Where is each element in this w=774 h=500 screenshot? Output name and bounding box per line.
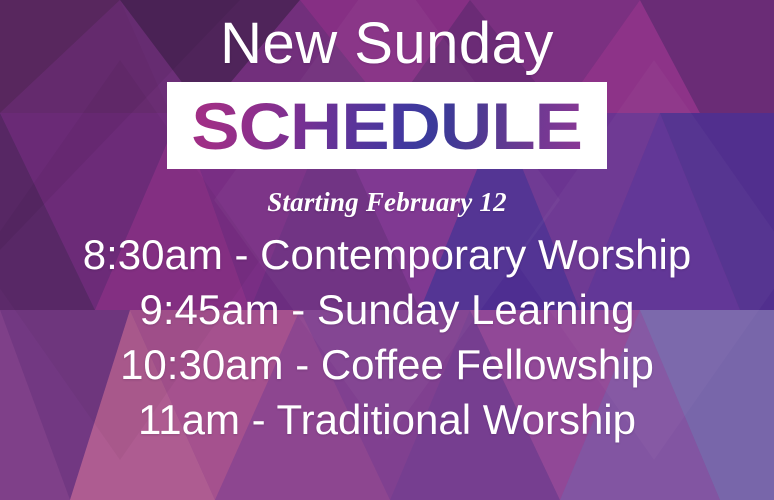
page-title: New Sunday — [220, 14, 554, 74]
start-date-subtitle: Starting February 12 — [267, 187, 507, 218]
schedule-item: 9:45am - Sunday Learning — [140, 282, 635, 337]
schedule-banner: SCHEDULE — [167, 82, 607, 169]
schedule-list: 8:30am - Contemporary Worship 9:45am - S… — [83, 227, 691, 447]
schedule-item: 8:30am - Contemporary Worship — [83, 227, 691, 282]
schedule-item: 10:30am - Coffee Fellowship — [120, 337, 654, 392]
poster-content: New Sunday SCHEDULE Starting February 12… — [0, 0, 774, 500]
poster-canvas: New Sunday SCHEDULE Starting February 12… — [0, 0, 774, 500]
banner-word-schedule: SCHEDULE — [192, 93, 583, 159]
schedule-item: 11am - Traditional Worship — [138, 392, 636, 447]
